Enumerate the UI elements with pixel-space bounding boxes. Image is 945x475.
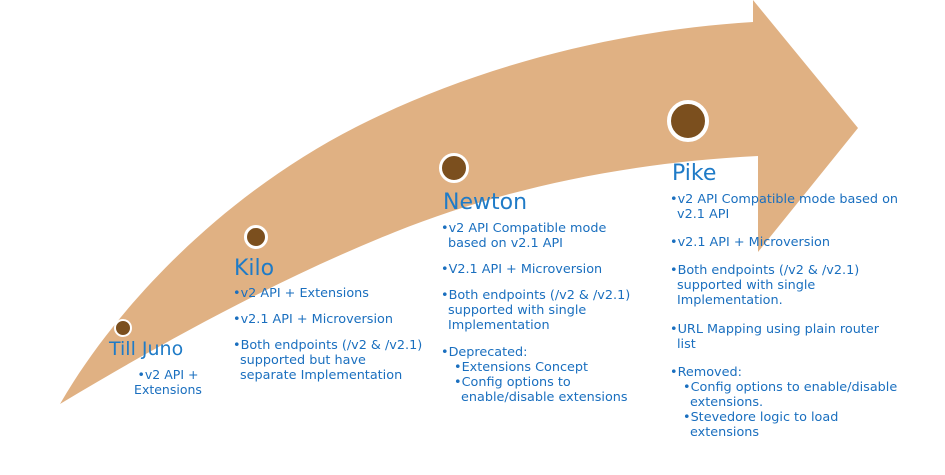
bullet-icon: •	[670, 192, 678, 207]
list-item: •v2.1 API + Microversion	[670, 235, 900, 250]
list-item: •Both endpoints (/v2 & /v2.1) supported …	[670, 263, 900, 308]
list-item: •V2.1 API + Microversion	[441, 262, 641, 277]
list-item: •Both endpoints (/v2 & /v2.1) supported …	[441, 288, 641, 333]
bullet-icon: •	[670, 365, 678, 380]
sub-bullet-text: Stevedore logic to load extensions	[690, 410, 838, 440]
bullet-icon: •	[683, 380, 691, 395]
bullet-icon: •	[441, 262, 449, 277]
list-item: •Deprecated: •Extensions Concept •Config…	[441, 345, 641, 405]
milestone-dot-kilo	[244, 225, 268, 249]
bullet-icon: •	[683, 410, 691, 425]
bullet-text: Deprecated:	[449, 345, 528, 360]
bullet-icon: •	[233, 312, 241, 327]
bullet-icon: •	[670, 263, 678, 278]
bullet-text: Removed:	[678, 365, 742, 380]
bullet-icon: •	[670, 322, 678, 337]
list-item: •v2.1 API + Microversion	[233, 312, 423, 327]
list-item: •v2 API Compatible mode based on v2.1 AP…	[670, 192, 900, 222]
bullet-text: V2.1 API + Microversion	[449, 262, 603, 277]
milestone-bullets-newton: •v2 API Compatible mode based on v2.1 AP…	[441, 221, 641, 405]
bullet-text: URL Mapping using plain router list	[677, 322, 879, 352]
diagram-canvas: Till Juno •v2 API + Extensions Kilo •v2 …	[0, 0, 945, 475]
bullet-icon: •	[670, 235, 678, 250]
sublist: •Extensions Concept •Config options to e…	[448, 360, 641, 405]
milestone-heading-kilo: Kilo	[234, 258, 274, 280]
bullet-icon: •	[233, 338, 241, 353]
sub-list-item: •Config options to enable/disable extens…	[448, 375, 641, 405]
list-item: •Both endpoints (/v2 & /v2.1) supported …	[233, 338, 423, 383]
bullet-icon: •	[454, 375, 462, 390]
bullet-icon: •	[441, 221, 449, 236]
bullet-text: v2.1 API + Microversion	[678, 235, 830, 250]
bullet-icon: •	[138, 367, 145, 382]
list-item: •v2 API Compatible mode based on v2.1 AP…	[441, 221, 641, 251]
bullet-text: Both endpoints (/v2 & /v2.1) supported w…	[677, 263, 859, 308]
bullet-text: v2 API Compatible mode based on v2.1 API	[448, 221, 606, 251]
bullet-text: v2 API + Extensions	[134, 367, 202, 397]
sub-bullet-text: Config options to enable/disable extensi…	[690, 380, 897, 410]
sub-list-item: •Stevedore logic to load extensions	[677, 410, 900, 440]
milestone-bullets-kilo: •v2 API + Extensions •v2.1 API + Microve…	[233, 286, 423, 383]
milestone-heading-pike: Pike	[672, 163, 716, 185]
list-item: •v2 API + Extensions	[233, 286, 423, 301]
bullet-text: v2.1 API + Microversion	[241, 312, 393, 327]
milestone-bullets-pike: •v2 API Compatible mode based on v2.1 AP…	[670, 192, 900, 453]
bullet-text: v2 API Compatible mode based on v2.1 API	[677, 192, 898, 222]
milestone-dot-juno	[114, 319, 132, 337]
sub-bullet-text: Config options to enable/disable extensi…	[461, 375, 628, 405]
bullet-icon: •	[454, 360, 462, 375]
bullet-icon: •	[441, 345, 449, 360]
bullet-text: Both endpoints (/v2 & /v2.1) supported b…	[240, 338, 422, 383]
sub-list-item: •Config options to enable/disable extens…	[677, 380, 900, 410]
milestone-heading-juno: Till Juno	[109, 340, 183, 359]
bullet-text: v2 API + Extensions	[241, 286, 369, 301]
sub-bullet-text: Extensions Concept	[462, 360, 588, 375]
bullet-icon: •	[441, 288, 449, 303]
list-item: •Removed: •Config options to enable/disa…	[670, 365, 900, 440]
list-item: •URL Mapping using plain router list	[670, 322, 900, 352]
milestone-bullets-juno: •v2 API + Extensions	[108, 368, 228, 398]
bullet-text: Both endpoints (/v2 & /v2.1) supported w…	[448, 288, 630, 333]
sub-list-item: •Extensions Concept	[448, 360, 641, 375]
milestone-heading-newton: Newton	[443, 192, 527, 214]
list-item: •v2 API + Extensions	[108, 368, 228, 398]
milestone-dot-pike	[667, 100, 709, 142]
bullet-icon: •	[233, 286, 241, 301]
sublist: •Config options to enable/disable extens…	[677, 380, 900, 440]
milestone-dot-newton	[439, 153, 469, 183]
